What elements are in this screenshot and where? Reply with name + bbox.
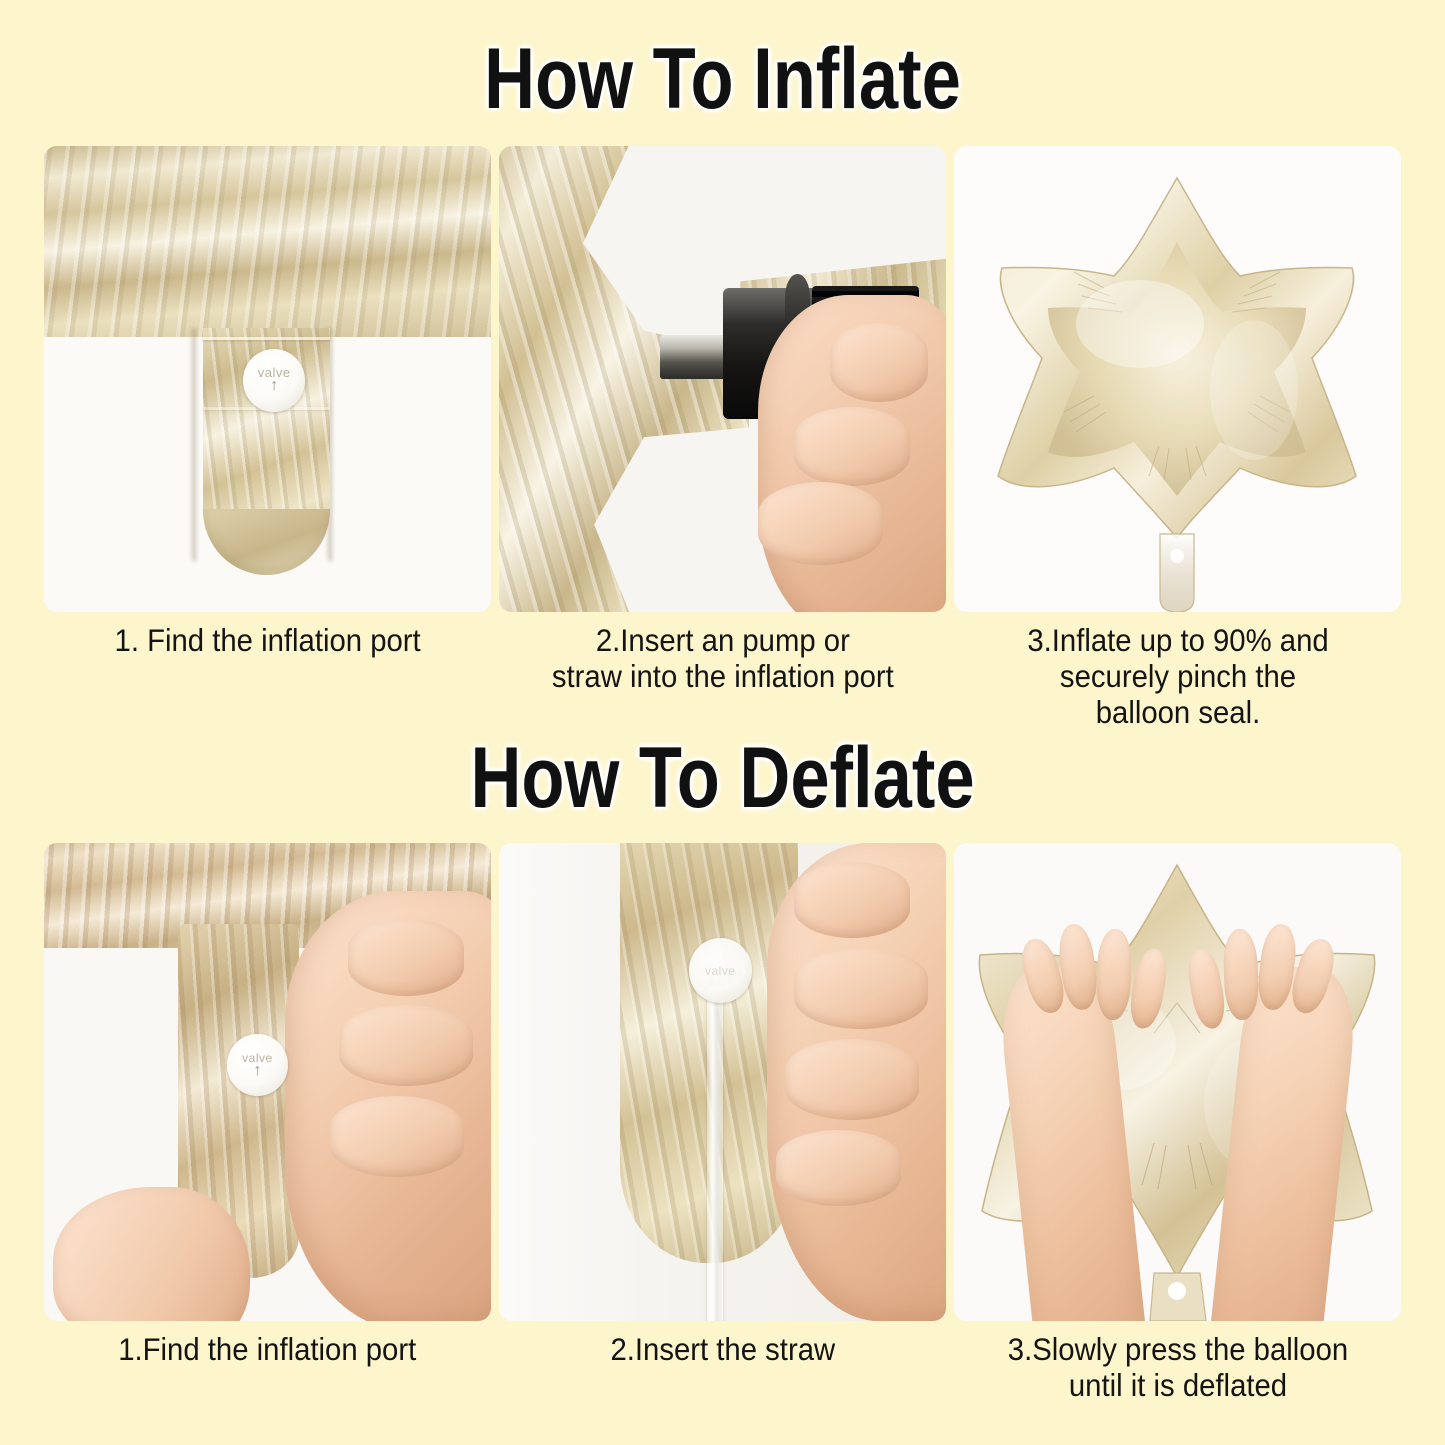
step-deflate-3: 3.Slowly press the balloon until it is d… [954,843,1401,1404]
valve-sticker-icon: valve ↑ [243,349,306,412]
valve-sticker-label: valve [705,965,736,977]
step-inflate-1-caption: 1. Find the inflation port [114,623,420,659]
page-title-deflate: How To Deflate [130,735,1315,821]
valve-arrow-icon: ↑ [270,379,278,393]
valve-sticker-icon: valve ↑ [227,1034,287,1096]
instruction-page: How To Inflate valve ↑ [0,0,1445,1445]
pump-nozzle-tip-icon [660,335,732,379]
step-deflate-1-caption: 1.Find the inflation port [118,1332,416,1368]
step-inflate-3: 3.Inflate up to 90% and securely pinch t… [954,146,1401,731]
step-inflate-2: 2.Insert an pump or straw into the infla… [499,146,946,731]
step-deflate-2: valve 2.Insert the straw [499,843,946,1404]
step-deflate-2-photo: valve [499,843,946,1321]
valve-sticker-icon: valve [689,938,752,1003]
step-inflate-3-photo [954,146,1401,612]
inflate-steps-row: valve ↑ 1. Find the inflation port [0,146,1445,731]
step-inflate-1-photo: valve ↑ [44,146,491,612]
valve-arrow-icon: ↑ [253,1064,261,1078]
step-inflate-2-caption: 2.Insert an pump or straw into the infla… [552,623,894,695]
straw-icon [707,986,723,1321]
step-inflate-1: valve ↑ 1. Find the inflation port [44,146,491,731]
star-balloon-inflated-icon [954,146,1401,612]
page-title-inflate: How To Inflate [130,36,1315,122]
step-deflate-1: valve ↑ 1.Find the inflation port [44,843,491,1404]
step-inflate-2-photo [499,146,946,612]
deflate-steps-row: valve ↑ 1.Find the inflation port [0,843,1445,1404]
step-deflate-3-caption: 3.Slowly press the balloon until it is d… [1007,1332,1347,1404]
step-deflate-2-caption: 2.Insert the straw [610,1332,835,1368]
step-deflate-1-photo: valve ↑ [44,843,491,1321]
step-inflate-3-caption: 3.Inflate up to 90% and securely pinch t… [1027,623,1328,731]
step-deflate-3-photo [954,843,1401,1321]
